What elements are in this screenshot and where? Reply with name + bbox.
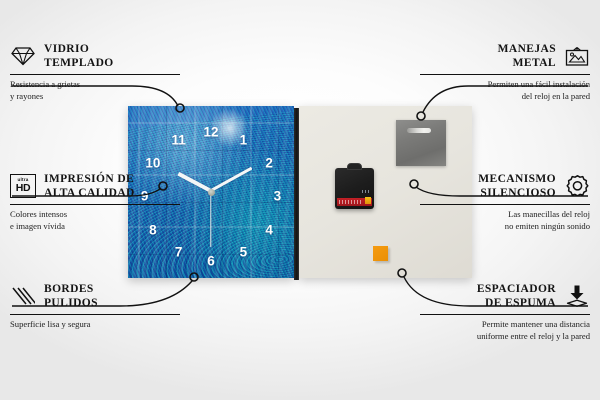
gear-icon [564, 173, 590, 199]
feature-title-line1: MECANISMO [478, 173, 556, 185]
clock-numeral: 4 [265, 223, 273, 237]
feature-desc-line1: Resistencia a grietas [10, 79, 80, 89]
feature-title-line2: TEMPLADO [44, 57, 114, 69]
feature-title: MANEJASMETAL [498, 42, 556, 70]
feature-title: VIDRIOTEMPLADO [44, 42, 114, 70]
feature-title-line2: PULIDOS [44, 297, 98, 309]
feature-desc-line2: del reloj en la pared [522, 91, 590, 101]
clock-center-hub [208, 189, 215, 196]
feature-desc-line2: y rayones [10, 91, 43, 101]
feature-title-line1: VIDRIO [44, 43, 89, 55]
foam-spacer-square [373, 246, 388, 261]
feature-desc-line1: Las manecillas del reloj [508, 209, 590, 219]
feature-description: Resistencia a grietasy rayones [10, 79, 180, 102]
product-infographic: 12 1 2 3 4 5 6 7 8 9 10 11 [0, 0, 600, 400]
feature-header: MANEJASMETAL [420, 42, 590, 70]
feature-desc-line1: Permite mantener una distancia [482, 319, 590, 329]
feature-header: VIDRIOTEMPLADO [10, 42, 180, 70]
metal-hanger-plate [396, 120, 446, 166]
feature-vidrio-templado: VIDRIOTEMPLADO Resistencia a grietasy ra… [10, 42, 180, 103]
clock-numeral: 6 [207, 254, 215, 268]
feature-divider [10, 314, 180, 315]
feature-espaciador-espuma: ESPACIADORDE ESPUMA Permite mantener una… [420, 282, 590, 343]
feature-impresion-alta-calidad: ultra HD IMPRESIÓN DEALTA CALIDAD Colore… [10, 172, 180, 233]
feature-title-line2: METAL [513, 57, 556, 69]
mechanism-label-ticks [339, 200, 363, 204]
polished-edges-icon [10, 283, 36, 309]
feature-title: ESPACIADORDE ESPUMA [477, 282, 556, 310]
clock-mechanism-box [335, 168, 374, 209]
clock-numeral: 5 [240, 245, 248, 259]
picture-hanger-icon [564, 43, 590, 69]
feature-divider [420, 314, 590, 315]
feature-title: MECANISMOSILENCIOSO [478, 172, 556, 200]
clock-numeral: 7 [175, 245, 183, 259]
feature-desc-line1: Permiten una fácil instalación [488, 79, 590, 89]
feature-description: Permite mantener una distanciauniforme e… [420, 319, 590, 342]
feature-title-line1: BORDES [44, 283, 94, 295]
feature-title: IMPRESIÓN DEALTA CALIDAD [44, 172, 135, 200]
feature-divider [420, 204, 590, 205]
clock-numeral: 3 [274, 190, 282, 204]
feature-title-line1: MANEJAS [498, 43, 556, 55]
feature-desc-line2: e imagen vívida [10, 221, 65, 231]
feature-header: ultra HD IMPRESIÓN DEALTA CALIDAD [10, 172, 180, 200]
feature-description: Las manecillas del relojno emiten ningún… [420, 209, 590, 232]
feature-desc-line1: Superficie lisa y segura [10, 319, 90, 329]
feature-divider [10, 204, 180, 205]
feature-title-line2: SILENCIOSO [480, 187, 556, 199]
feature-divider [10, 74, 180, 75]
feature-title: BORDESPULIDOS [44, 282, 98, 310]
mechanism-battery-chip [365, 197, 371, 204]
feature-manejas-metal: MANEJASMETAL Permiten una fácil instalac… [420, 42, 590, 103]
foam-spacer-icon [564, 283, 590, 309]
feature-header: MECANISMOSILENCIOSO [420, 172, 590, 200]
feature-header: BORDESPULIDOS [10, 282, 180, 310]
feature-title-line1: ESPACIADOR [477, 283, 556, 295]
feature-title-line2: ALTA CALIDAD [44, 187, 135, 199]
ultra-hd-badge: ultra HD [10, 174, 36, 198]
feature-header: ESPACIADORDE ESPUMA [420, 282, 590, 310]
clock-numeral: 11 [171, 134, 185, 148]
feature-title-line2: DE ESPUMA [485, 297, 556, 309]
feature-divider [420, 74, 590, 75]
mechanism-red-label [337, 198, 372, 206]
feature-bordes-pulidos: BORDESPULIDOS Superficie lisa y segura [10, 282, 180, 331]
ultra-hd-icon: ultra HD [10, 173, 36, 199]
feature-title-line1: IMPRESIÓN DE [44, 173, 134, 185]
feature-desc-line2: no emiten ningún sonido [505, 221, 590, 231]
clock-numeral: 2 [265, 156, 273, 170]
feature-mecanismo-silencioso: MECANISMOSILENCIOSO Las manecillas del r… [420, 172, 590, 233]
diamond-icon [10, 43, 36, 69]
hanger-slot [407, 128, 431, 133]
feature-desc-line1: Colores intensos [10, 209, 67, 219]
clock-numeral: 1 [240, 134, 248, 148]
ultra-hd-main-text: HD [16, 183, 31, 194]
feature-description: Colores intensose imagen vívida [10, 209, 180, 232]
clock-numeral: 10 [145, 156, 160, 170]
mechanism-detail [362, 190, 371, 193]
feature-description: Permiten una fácil instalacióndel reloj … [420, 79, 590, 102]
feature-desc-line2: uniforme entre el reloj y la pared [477, 331, 590, 341]
clock-numeral: 12 [203, 125, 218, 139]
feature-description: Superficie lisa y segura [10, 319, 180, 331]
mechanism-shaft [347, 163, 362, 170]
